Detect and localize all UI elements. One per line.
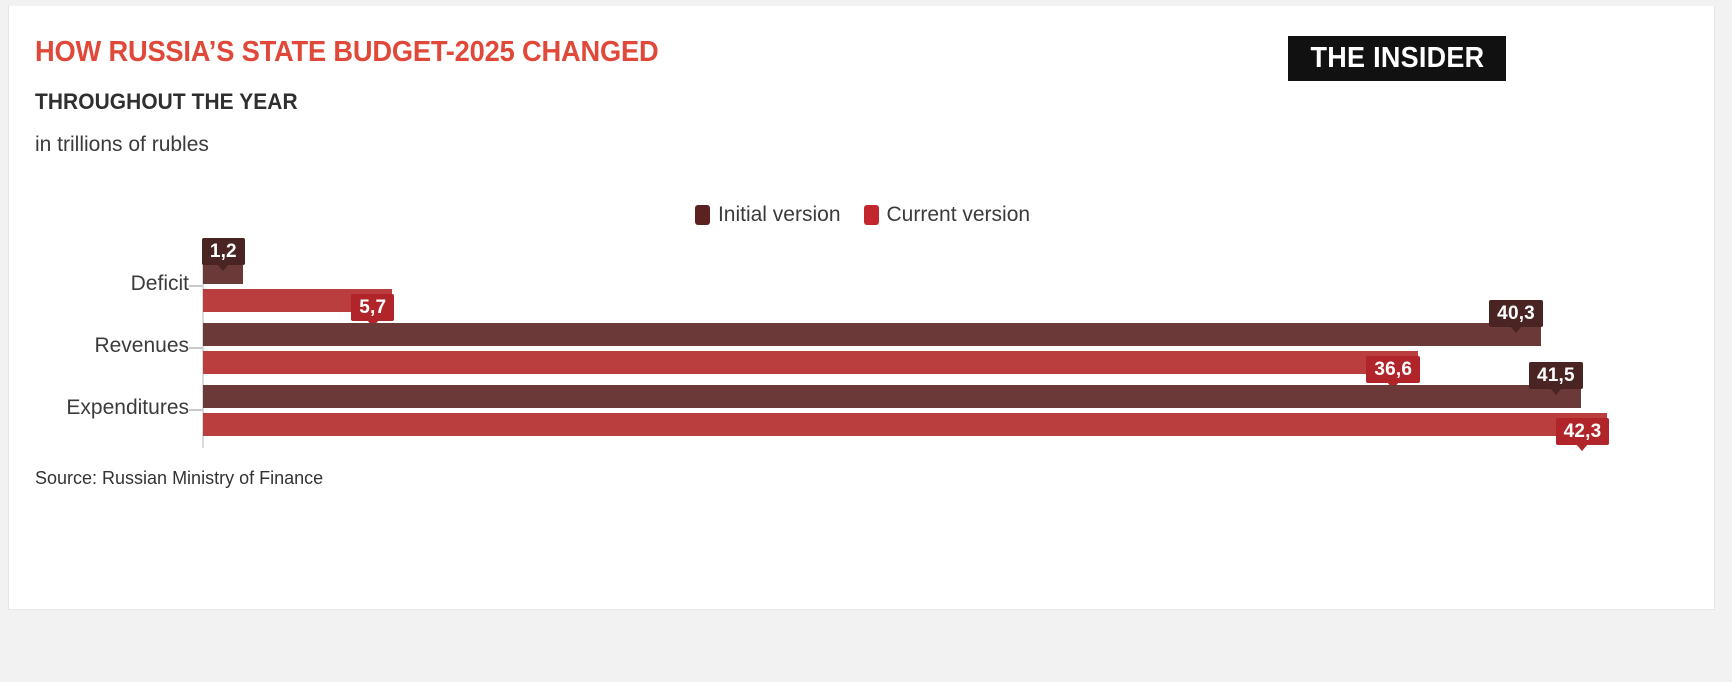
infographic-page: HOW RUSSIA’S STATE BUDGET-2025 CHANGED T…: [0, 0, 1732, 682]
axis-tick-revenues: [189, 347, 202, 349]
legend-swatch-current-version: [864, 205, 879, 225]
axis-tick-expenditures: [189, 409, 202, 411]
legend-label-current-version: Current version: [887, 203, 1031, 227]
page-subtitle: THROUGHOUT THE YEAR: [35, 89, 298, 115]
legend-item-initial-version[interactable]: Initial version: [695, 203, 841, 227]
axis-tick-deficit: [189, 285, 202, 287]
chart-row-deficit: Deficit 1,2 5,7: [9, 258, 1716, 320]
page-title: HOW RUSSIA’S STATE BUDGET-2025 CHANGED: [35, 36, 658, 69]
chart-legend: Initial version Current version: [9, 203, 1716, 227]
bar-revenues-current-version[interactable]: 36,6: [203, 351, 1418, 374]
logo-text: THE INSIDER: [1310, 42, 1484, 75]
bar-expenditures-initial-version[interactable]: 41,5: [203, 385, 1581, 408]
chart-row-revenues: Revenues 40,3 36,6: [9, 320, 1716, 382]
category-label-expenditures: Expenditures: [66, 396, 189, 420]
bar-label-revenues-initial-version: 40,3: [1489, 300, 1543, 327]
legend-swatch-initial-version: [695, 205, 710, 225]
legend-item-current-version[interactable]: Current version: [864, 203, 1031, 227]
units-caption: in trillions of rubles: [35, 133, 209, 157]
chart-card: HOW RUSSIA’S STATE BUDGET-2025 CHANGED T…: [8, 6, 1715, 610]
bar-expenditures-current-version[interactable]: 42,3: [203, 413, 1607, 436]
category-label-revenues: Revenues: [94, 334, 189, 358]
bar-label-deficit-current-version: 5,7: [351, 294, 394, 321]
legend-label-initial-version: Initial version: [718, 203, 841, 227]
bar-label-expenditures-current-version: 42,3: [1556, 418, 1610, 445]
bar-deficit-initial-version[interactable]: 1,2: [203, 261, 243, 284]
bar-chart-plot: Deficit 1,2 5,7 Revenues: [9, 258, 1716, 458]
bar-label-deficit-initial-version: 1,2: [202, 238, 245, 265]
the-insider-logo: THE INSIDER: [1288, 36, 1506, 81]
bar-deficit-current-version[interactable]: 5,7: [203, 289, 392, 312]
source-note: Source: Russian Ministry of Finance: [35, 468, 323, 489]
category-label-deficit: Deficit: [131, 272, 189, 296]
chart-row-expenditures: Expenditures 41,5 42,3: [9, 382, 1716, 444]
bar-revenues-initial-version[interactable]: 40,3: [203, 323, 1541, 346]
bar-label-expenditures-initial-version: 41,5: [1529, 362, 1583, 389]
bar-label-revenues-current-version: 36,6: [1366, 356, 1420, 383]
